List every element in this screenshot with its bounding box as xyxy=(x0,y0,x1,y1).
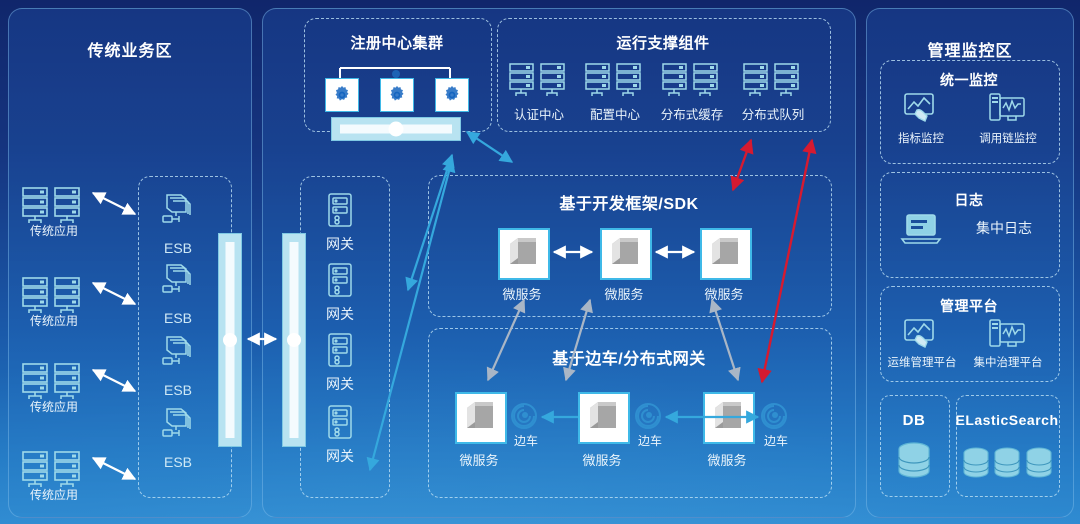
registry-cluster-title: 注册中心集群 xyxy=(304,32,490,53)
gateway-icon xyxy=(325,404,355,442)
esb-icon xyxy=(157,406,193,444)
server-stack-icon xyxy=(584,62,646,100)
runtime-support-label: 配置中心 xyxy=(574,104,656,123)
monitor-item-label: 调用链监控 xyxy=(962,130,1054,146)
trace-monitor-icon xyxy=(988,92,1026,124)
cube-icon xyxy=(457,394,501,438)
registry-bus-bar xyxy=(331,117,461,141)
microservice-label: 微服务 xyxy=(572,450,632,469)
monitor-item-label: 指标监控 xyxy=(878,130,964,146)
runtime-support-label: 认证中心 xyxy=(498,104,580,123)
legacy-app-label: 传统应用 xyxy=(8,486,100,503)
cube-icon xyxy=(580,394,624,438)
microservice-node[interactable] xyxy=(498,228,550,280)
legacy-app-label: 传统应用 xyxy=(8,312,100,329)
architecture-diagram: 传统业务区 传统应用 传统应用 传统应用 xyxy=(0,0,1080,524)
left-panel-title: 传统业务区 xyxy=(9,37,251,61)
log-item-label: 集中日志 xyxy=(960,218,1048,238)
database-cylinder-icon xyxy=(962,446,1054,486)
cube-icon xyxy=(500,230,544,274)
microservice-label: 微服务 xyxy=(594,284,654,303)
sidecar-spiral-icon xyxy=(634,402,662,430)
management-platform-title: 管理平台 xyxy=(880,296,1058,316)
registry-node[interactable] xyxy=(380,78,414,112)
unified-monitor-title: 统一监控 xyxy=(880,70,1058,90)
platform-item-label: 运维管理平台 xyxy=(874,354,970,370)
platform-item-label: 集中治理平台 xyxy=(962,354,1054,370)
elasticsearch-title: ELasticSearch xyxy=(952,412,1062,428)
sidecar-label: 边车 xyxy=(506,432,546,449)
laptop-icon xyxy=(900,212,942,246)
gateway-icon xyxy=(325,332,355,370)
metrics-tablet-icon xyxy=(903,92,937,124)
sidecar-spiral-icon xyxy=(760,402,788,430)
gear-icon xyxy=(387,85,407,105)
sidecar-label: 边车 xyxy=(630,432,670,449)
legacy-app-label: 传统应用 xyxy=(8,222,100,239)
gateway-label: 网关 xyxy=(310,446,370,466)
microservice-node[interactable] xyxy=(700,228,752,280)
gateway-icon xyxy=(325,262,355,300)
runtime-support-title: 运行支撑组件 xyxy=(497,32,829,53)
sidecar-zone-title: 基于边车/分布式网关 xyxy=(428,345,830,369)
esb-icon xyxy=(157,192,193,230)
microservice-label: 微服务 xyxy=(694,284,754,303)
gear-icon xyxy=(332,85,352,105)
gateway-bus-bar xyxy=(282,233,306,447)
legacy-app-label: 传统应用 xyxy=(8,398,100,415)
server-stack-icon xyxy=(20,450,86,490)
right-panel-title: 管理监控区 xyxy=(867,37,1073,61)
db-title: DB xyxy=(880,412,948,429)
microservice-node[interactable] xyxy=(455,392,507,444)
server-stack-icon xyxy=(661,62,723,100)
gateway-label: 网关 xyxy=(310,374,370,394)
database-cylinder-icon xyxy=(893,440,935,484)
server-stack-icon xyxy=(20,276,86,316)
esb-icon xyxy=(157,334,193,372)
microservice-node[interactable] xyxy=(578,392,630,444)
esb-icon xyxy=(157,262,193,300)
gateway-label: 网关 xyxy=(310,304,370,324)
cube-icon xyxy=(702,230,746,274)
microservice-node[interactable] xyxy=(600,228,652,280)
esb-label: ESB xyxy=(148,382,208,398)
sdk-zone-title: 基于开发框架/SDK xyxy=(428,190,830,214)
microservice-node[interactable] xyxy=(703,392,755,444)
esb-label: ESB xyxy=(148,240,208,256)
microservice-label: 微服务 xyxy=(492,284,552,303)
microservice-label: 微服务 xyxy=(449,450,509,469)
metrics-tablet-icon xyxy=(903,318,937,350)
runtime-support-label: 分布式队列 xyxy=(727,104,819,123)
server-stack-icon xyxy=(508,62,570,100)
sidecar-label: 边车 xyxy=(756,432,796,449)
esb-label: ESB xyxy=(148,454,208,470)
gateway-label: 网关 xyxy=(310,234,370,254)
log-title: 日志 xyxy=(880,190,1058,210)
runtime-support-label: 分布式缓存 xyxy=(646,104,738,123)
server-stack-icon xyxy=(20,186,86,226)
sidecar-spiral-icon xyxy=(510,402,538,430)
gear-icon xyxy=(442,85,462,105)
server-stack-icon xyxy=(742,62,804,100)
esb-label: ESB xyxy=(148,310,208,326)
cube-icon xyxy=(602,230,646,274)
microservice-label: 微服务 xyxy=(697,450,757,469)
server-stack-icon xyxy=(20,362,86,402)
cube-icon xyxy=(705,394,749,438)
gateway-icon xyxy=(325,192,355,230)
registry-node[interactable] xyxy=(325,78,359,112)
trace-monitor-icon xyxy=(988,318,1026,350)
registry-node[interactable] xyxy=(435,78,469,112)
legacy-bus-bar xyxy=(218,233,242,447)
